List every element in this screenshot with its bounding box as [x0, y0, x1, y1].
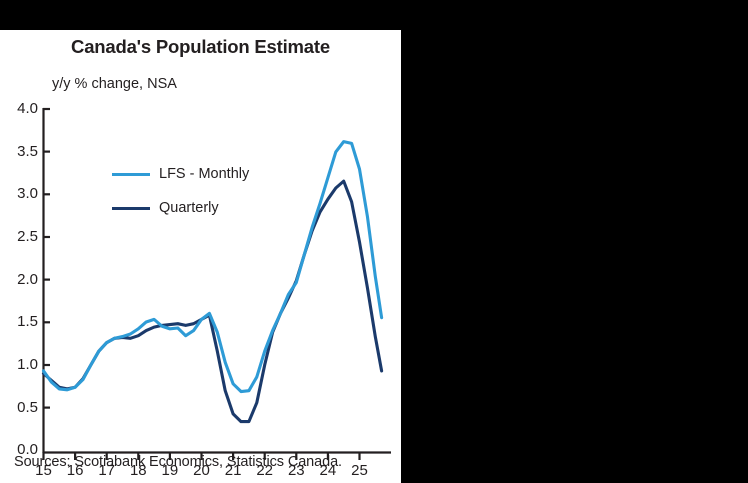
chart-legend: LFS - Monthly Quarterly — [112, 162, 249, 220]
axes — [43, 108, 391, 460]
chart-figure: Canada's Population Estimate y/y % chang… — [0, 30, 401, 483]
legend-label-quarterly: Quarterly — [159, 200, 219, 216]
source-note: Sources: Scotiabank Economics, Statistic… — [14, 454, 342, 470]
y-tick-label-4-0: 4.0 — [2, 100, 38, 117]
legend-swatch-quarterly — [112, 207, 150, 210]
legend-item-lfs-monthly: LFS - Monthly — [112, 162, 249, 186]
y-tick-label-2-0: 2.0 — [2, 271, 38, 288]
y-tick-label-0-5: 0.5 — [2, 399, 38, 416]
y-tick-label-1-0: 1.0 — [2, 356, 38, 373]
plot-area — [0, 30, 401, 483]
screenshot-root: Canada's Population Estimate y/y % chang… — [0, 0, 748, 483]
legend-label-lfs-monthly: LFS - Monthly — [159, 166, 249, 182]
y-tick-label-3-5: 3.5 — [2, 143, 38, 160]
y-tick-label-2-5: 2.5 — [2, 228, 38, 245]
y-tick-label-3-0: 3.0 — [2, 185, 38, 202]
legend-swatch-lfs-monthly — [112, 173, 150, 176]
legend-item-quarterly: Quarterly — [112, 196, 249, 220]
x-tick-label-25: 25 — [344, 462, 376, 479]
y-tick-label-1-5: 1.5 — [2, 313, 38, 330]
